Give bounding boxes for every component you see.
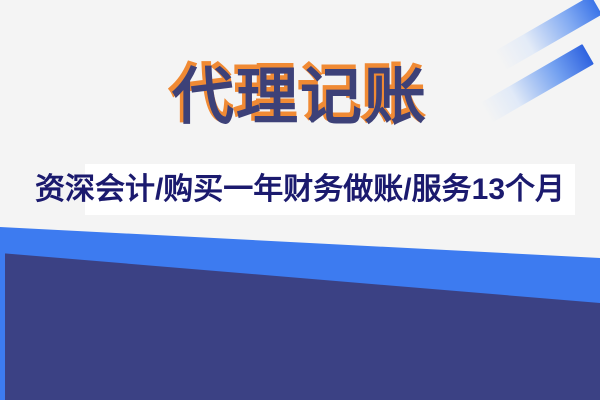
banner-title: 代理记账 代理记账 bbox=[172, 62, 428, 134]
left-edge-accent bbox=[0, 250, 5, 400]
banner-subtitle: 资深会计/购买一年财务做账/服务13个月 bbox=[0, 170, 600, 210]
promo-banner: 代理记账 代理记账 资深会计/购买一年财务做账/服务13个月 bbox=[0, 0, 600, 400]
banner-title-fill: 代理记账 bbox=[172, 63, 428, 132]
